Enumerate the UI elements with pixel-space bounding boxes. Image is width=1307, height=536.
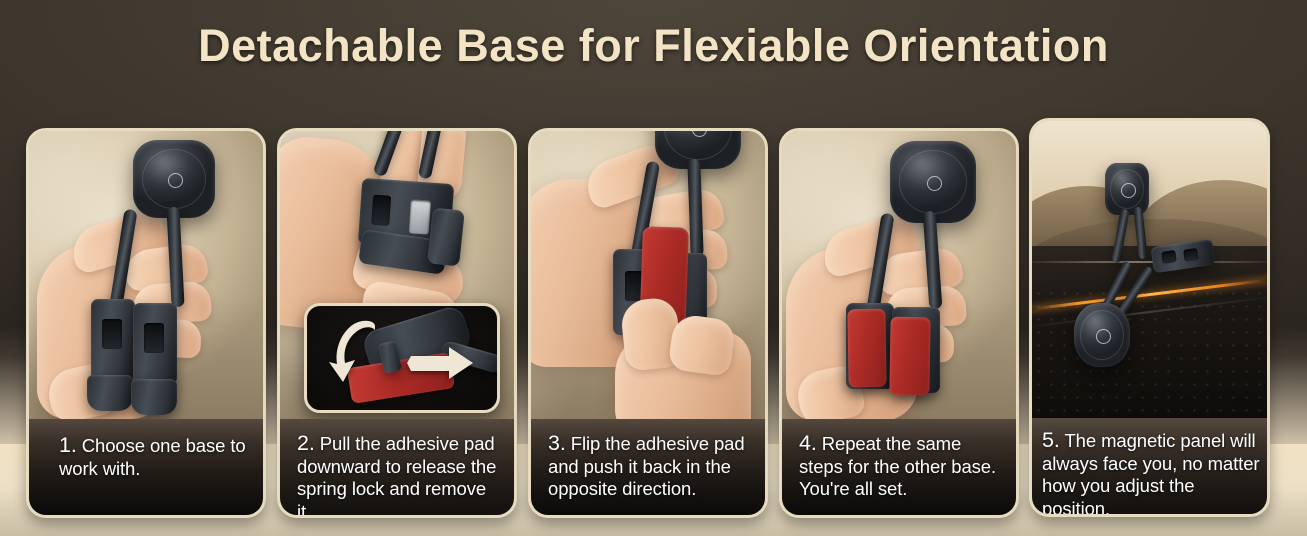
step-2-inset-callout: [304, 303, 500, 413]
windshield-edge: [1032, 261, 1267, 263]
magnetic-panel: [890, 141, 976, 223]
step-4-caption: 4. Repeat the same steps for the other b…: [782, 419, 1016, 515]
rotate-arrow-icon: [325, 316, 387, 388]
step-2-text: Pull the adhesive pad downward to releas…: [297, 433, 496, 518]
adhesive-pad-left: [847, 309, 886, 388]
base-clip-left: [91, 299, 135, 381]
step-1-caption: 1. Choose one base to work with.: [29, 419, 263, 515]
step-5-caption: 5. The magnetic panel will always face y…: [1032, 418, 1267, 517]
step-2-number: 2.: [297, 431, 315, 455]
push-arrow-icon: [405, 346, 475, 380]
base-foot-right: [131, 379, 177, 415]
step-4-number: 4.: [799, 431, 817, 455]
base-clip-right: [133, 303, 177, 385]
step-3-number: 3.: [548, 431, 566, 455]
infographic-root: Detachable Base for Flexiable Orientatio…: [0, 0, 1307, 536]
step-1-photo: [29, 131, 263, 419]
step-3-text: Flip the adhesive pad and push it back i…: [548, 433, 745, 499]
adhesive-pad-right: [889, 317, 930, 396]
step-card-4: 4. Repeat the same steps for the other b…: [779, 128, 1019, 518]
step-3-photo: [531, 131, 765, 419]
step-card-3: 3. Flip the adhesive pad and push it bac…: [528, 128, 768, 518]
step-3-caption: 3. Flip the adhesive pad and push it bac…: [531, 419, 765, 515]
step-1-text: Choose one base to work with.: [59, 435, 246, 479]
dashboard-speaker-grille: [1032, 287, 1267, 418]
step-card-5: 5. The magnetic panel will always face y…: [1029, 118, 1270, 517]
step-5-photo: [1032, 121, 1267, 418]
step-2-caption: 2. Pull the adhesive pad downward to rel…: [280, 419, 514, 518]
steps-strip: 1. Choose one base to work with.: [26, 128, 1281, 518]
step-4-photo: [782, 131, 1016, 419]
magnetic-panel-upper: [1105, 163, 1149, 215]
step-5-text: The magnetic panel will always face you,…: [1042, 430, 1259, 517]
step-5-number: 5.: [1042, 428, 1060, 452]
base-foot-left: [87, 375, 133, 411]
step-card-2: 2. Pull the adhesive pad downward to rel…: [277, 128, 517, 518]
page-title: Detachable Base for Flexiable Orientatio…: [0, 20, 1307, 72]
step-card-1: 1. Choose one base to work with.: [26, 128, 266, 518]
step-2-photo: [280, 131, 514, 419]
base-clip-side: [427, 207, 465, 266]
step-1-number: 1.: [59, 433, 77, 457]
step-4-text: Repeat the same steps for the other base…: [799, 433, 996, 499]
magnetic-panel-lower: [1074, 303, 1130, 367]
